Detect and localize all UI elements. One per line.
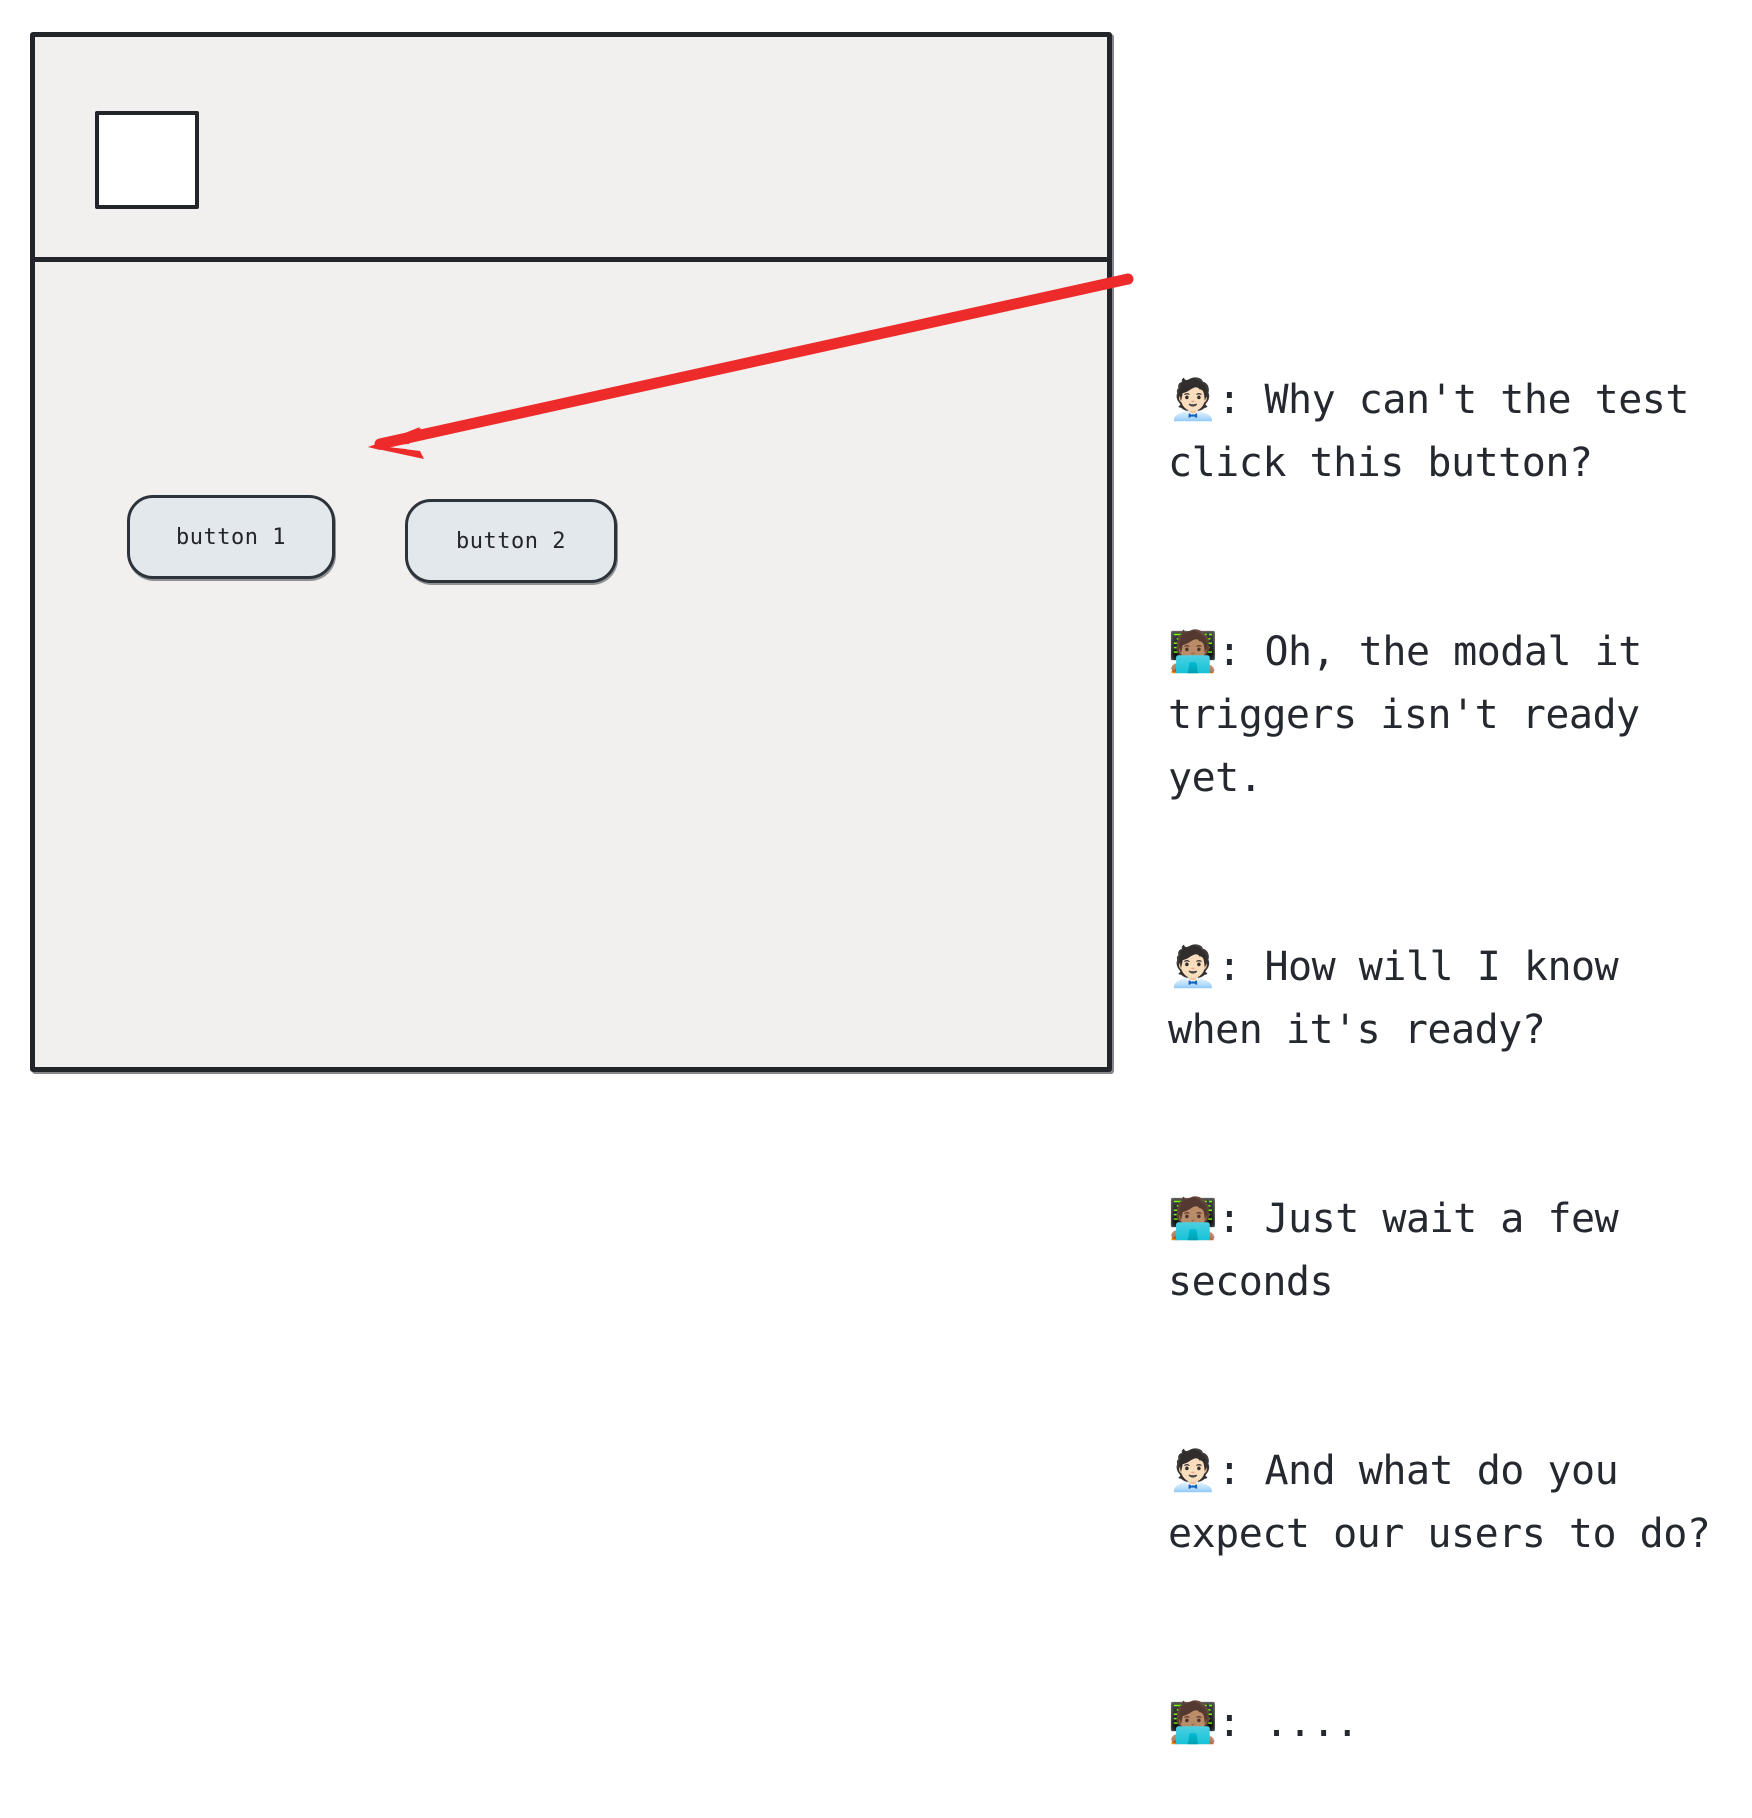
dialogue-text: : Why can't the test click this button? <box>1168 377 1713 486</box>
button-2-label: button 2 <box>456 529 566 554</box>
dialogue-text: : Just wait a few seconds <box>1168 1196 1642 1305</box>
dialogue-line: 🧑🏽‍💻: .... <box>1168 1692 1728 1755</box>
speaker-avatar-developer-icon: 🧑🏽‍💻 <box>1168 1700 1217 1746</box>
dialogue-line: 🧑🏽‍💻: Just wait a few seconds <box>1168 1188 1728 1314</box>
speaker-avatar-manager-icon: 🧑🏻‍💼 <box>1168 1448 1217 1494</box>
toolbar-panel <box>35 37 1107 262</box>
dialogue-line: 🧑🏽‍💻: Oh, the modal it triggers isn't re… <box>1168 621 1728 810</box>
button-1-label: button 1 <box>176 525 286 550</box>
dialogue-text: : And what do you expect our users to do… <box>1168 1448 1710 1557</box>
app-window: button 1 button 2 <box>30 32 1112 1072</box>
speaker-avatar-manager-icon: 🧑🏻‍💼 <box>1168 377 1217 423</box>
speaker-avatar-developer-icon: 🧑🏽‍💻 <box>1168 1196 1217 1242</box>
empty-square-placeholder <box>95 111 199 209</box>
speaker-avatar-developer-icon: 🧑🏽‍💻 <box>1168 629 1217 675</box>
dialogue-transcript: 🧑🏻‍💼: Why can't the test click this butt… <box>1168 243 1728 1818</box>
content-panel: button 1 button 2 <box>35 267 1107 1067</box>
button-2[interactable]: button 2 <box>405 499 617 583</box>
dialogue-line: 🧑🏻‍💼: How will I know when it's ready? <box>1168 936 1728 1062</box>
dialogue-line: 🧑🏻‍💼: Why can't the test click this butt… <box>1168 369 1728 495</box>
dialogue-text: : Oh, the modal it triggers isn't ready … <box>1168 629 1665 801</box>
speaker-avatar-manager-icon: 🧑🏻‍💼 <box>1168 944 1217 990</box>
dialogue-text: : .... <box>1217 1700 1359 1746</box>
dialogue-line: 🧑🏻‍💼: And what do you expect our users t… <box>1168 1440 1728 1566</box>
dialogue-text: : How will I know when it's ready? <box>1168 944 1642 1053</box>
button-1[interactable]: button 1 <box>127 495 335 579</box>
